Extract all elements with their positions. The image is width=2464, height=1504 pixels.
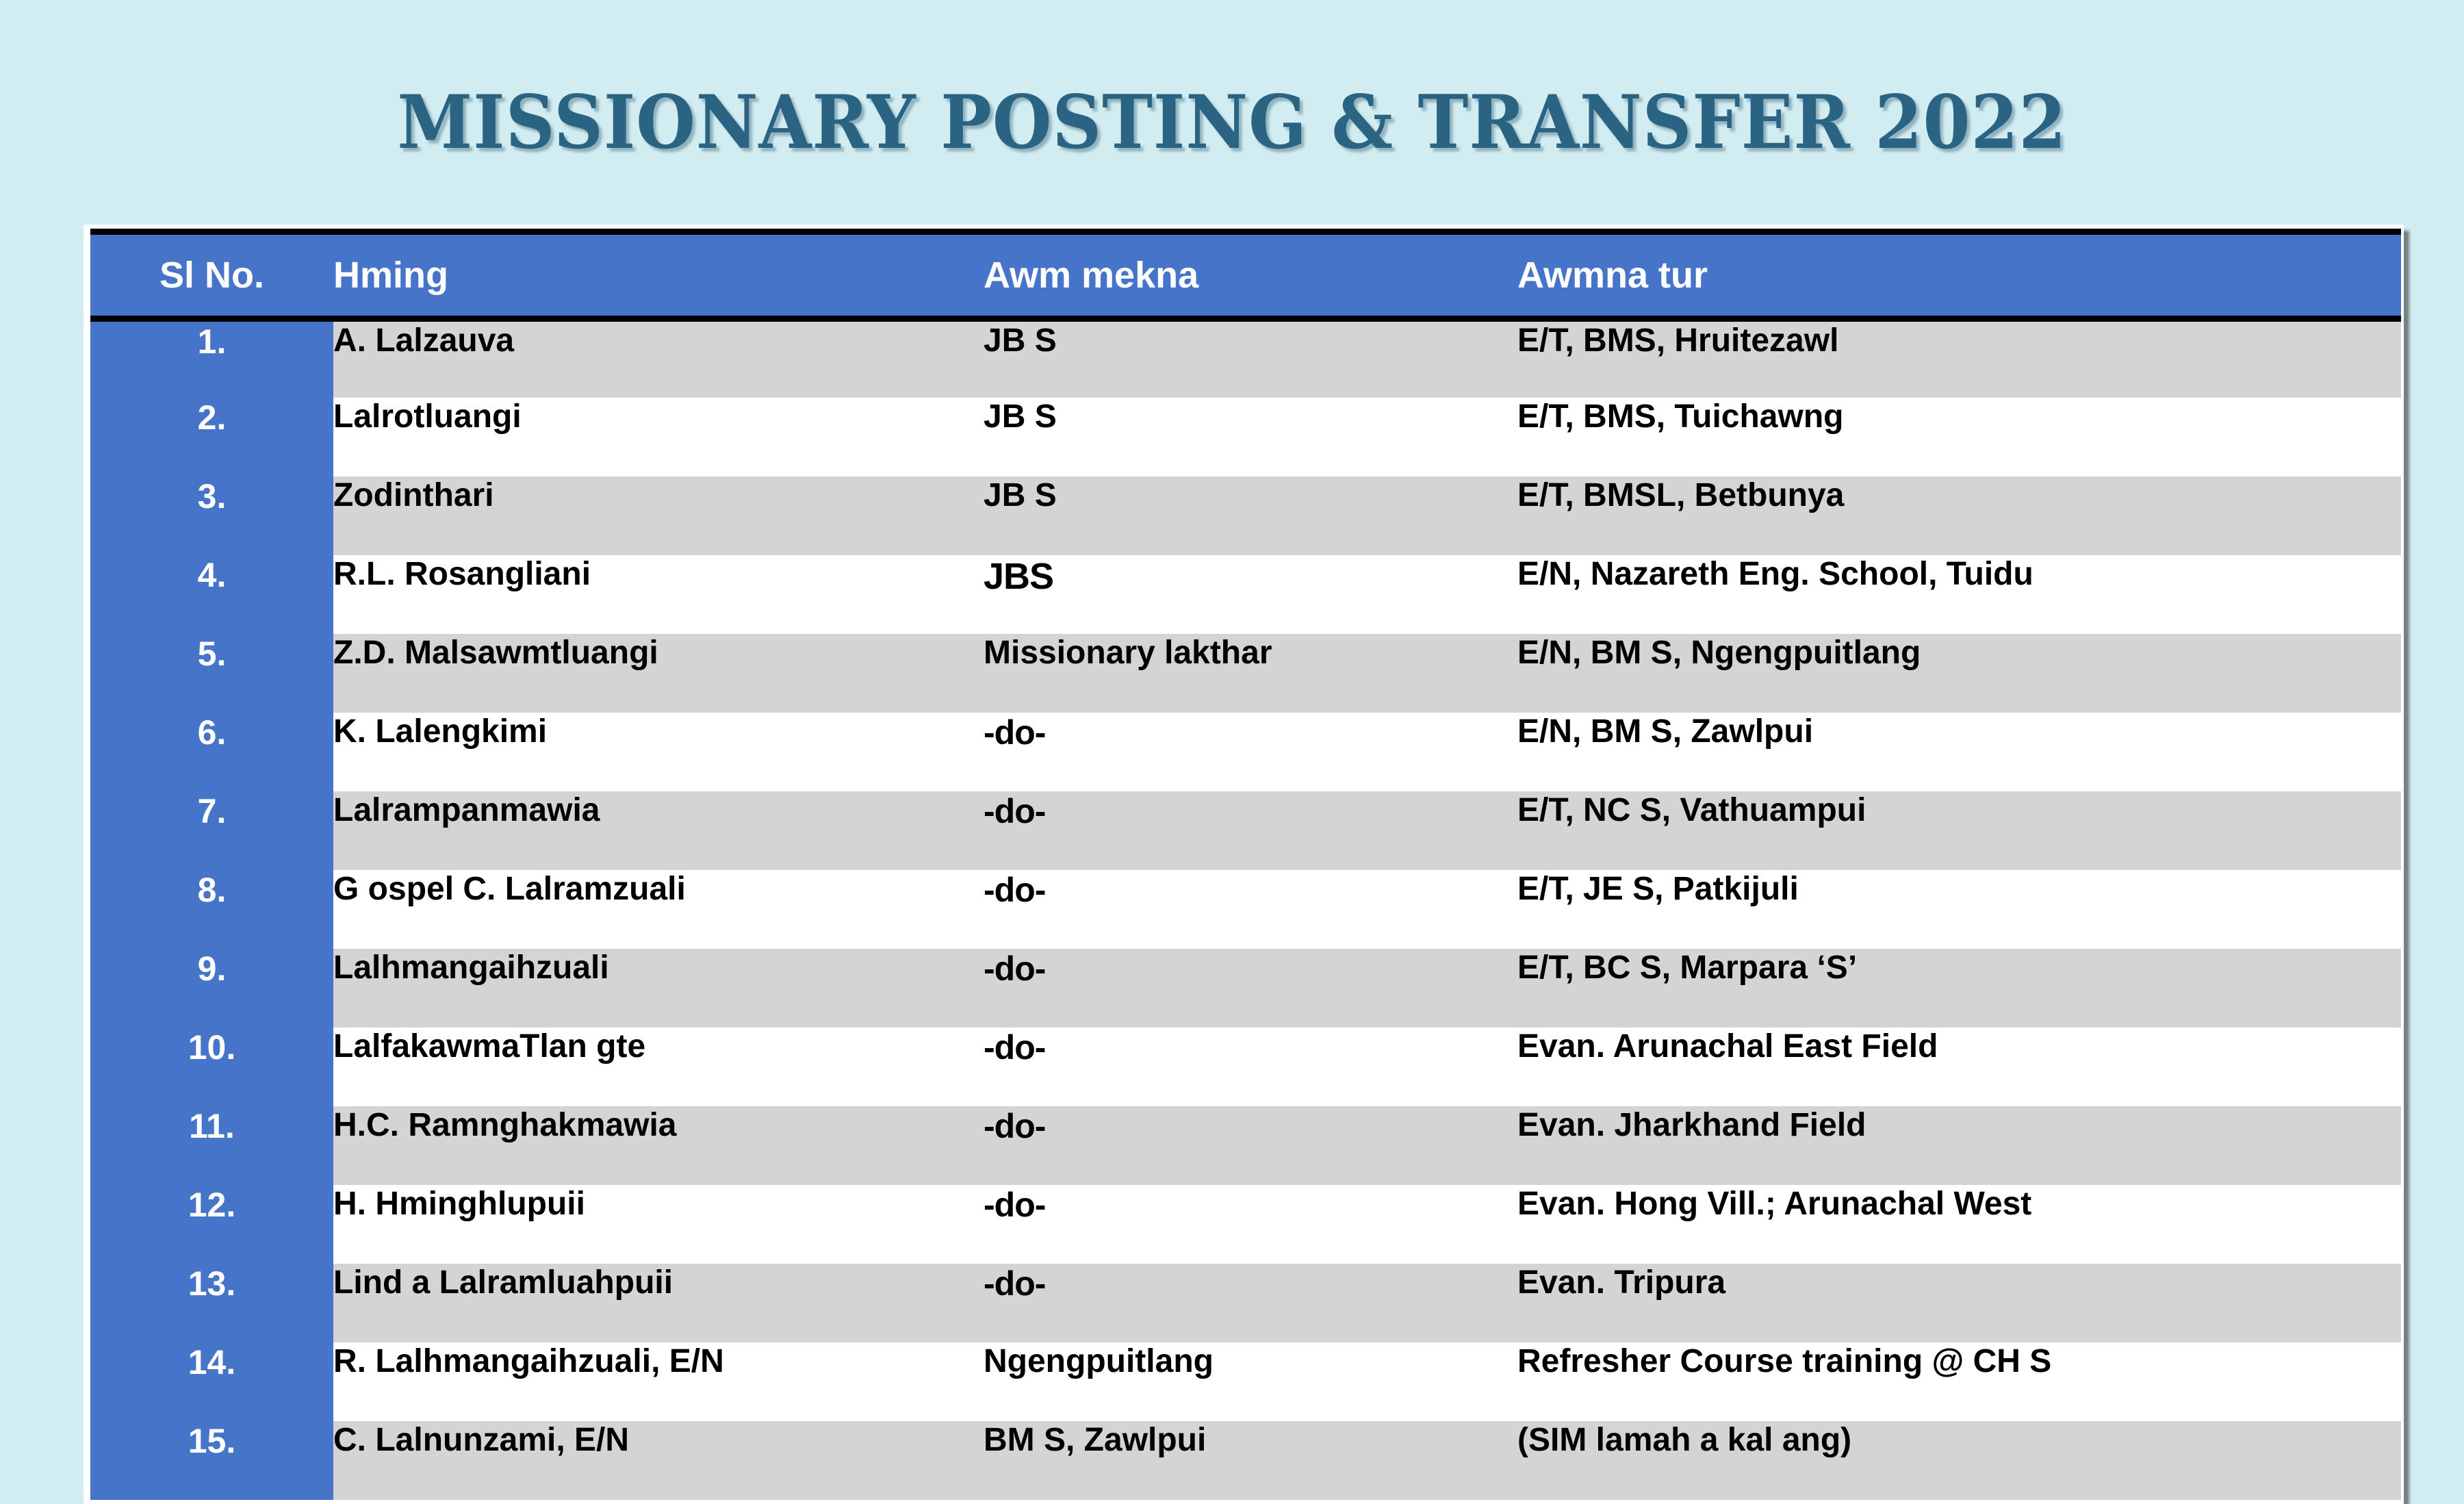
- row-current-posting: -do-: [984, 791, 1517, 870]
- row-missionary-name: Lalrotluangi: [333, 398, 984, 476]
- row-serial-number: 15.: [90, 1421, 333, 1500]
- row-missionary-name: H. Hminghlupuii: [333, 1185, 984, 1264]
- row-new-posting: E/N, Nazareth Eng. School, Tuidu: [1517, 555, 2401, 634]
- row-new-posting: E/T, NC S, Vathuampui: [1517, 791, 2401, 870]
- row-new-posting: Evan. Hong Vill.; Arunachal West: [1517, 1185, 2401, 1264]
- table-row: 1.A. LalzauvaJB SE/T, BMS, Hruitezawl: [90, 319, 2401, 398]
- table-row: 4.R.L. RosanglianiJBSE/N, Nazareth Eng. …: [90, 555, 2401, 634]
- row-current-posting: -do-: [984, 1264, 1517, 1342]
- row-current-posting: -do-: [984, 1028, 1517, 1106]
- row-missionary-name: Lind a Lalramluahpuii: [333, 1264, 984, 1342]
- table-body: 1.A. LalzauvaJB SE/T, BMS, Hruitezawl2.L…: [90, 319, 2401, 1500]
- row-new-posting: E/T, BMS, Tuichawng: [1517, 398, 2401, 476]
- posting-transfer-table: Sl No. Hming Awm mekna Awmna tur 1.A. La…: [90, 229, 2401, 1500]
- row-serial-number: 8.: [90, 870, 333, 949]
- row-serial-number: 3.: [90, 476, 333, 555]
- table-row: 15.C. Lalnunzami, E/NBM S, Zawlpui(SIM l…: [90, 1421, 2401, 1500]
- row-missionary-name: LalfakawmaTlan gte: [333, 1028, 984, 1106]
- row-new-posting: E/T, BC S, Marpara ‘S’: [1517, 949, 2401, 1028]
- table-row: 12.H. Hminghlupuii-do-Evan. Hong Vill.; …: [90, 1185, 2401, 1264]
- row-missionary-name: A. Lalzauva: [333, 319, 984, 398]
- row-current-posting: Missionary lakthar: [984, 634, 1517, 713]
- column-header-hming: Hming: [333, 232, 984, 319]
- row-missionary-name: C. Lalnunzami, E/N: [333, 1421, 984, 1500]
- row-new-posting: (SIM lamah a kal ang): [1517, 1421, 2401, 1500]
- table-row: 8.G ospel C. Lalramzuali-do-E/T, JE S, P…: [90, 870, 2401, 949]
- row-serial-number: 6.: [90, 713, 333, 791]
- row-new-posting: E/N, BM S, Zawlpui: [1517, 713, 2401, 791]
- table-row: 2.LalrotluangiJB SE/T, BMS, Tuichawng: [90, 398, 2401, 476]
- row-serial-number: 9.: [90, 949, 333, 1028]
- row-missionary-name: Z.D. Malsawmtluangi: [333, 634, 984, 713]
- row-missionary-name: Lalrampanmawia: [333, 791, 984, 870]
- row-serial-number: 12.: [90, 1185, 333, 1264]
- page-title: MISSIONARY POSTING & TRANSFER 2022: [99, 82, 2365, 164]
- row-new-posting: Refresher Course training @ CH S: [1517, 1342, 2401, 1421]
- row-current-posting: JB S: [984, 476, 1517, 555]
- row-missionary-name: H.C. Ramnghakmawia: [333, 1106, 984, 1185]
- row-current-posting: -do-: [984, 1185, 1517, 1264]
- row-current-posting: JB S: [984, 398, 1517, 476]
- posting-table-container: Sl No. Hming Awm mekna Awmna tur 1.A. La…: [84, 225, 2404, 1504]
- row-new-posting: E/N, BM S, Ngengpuitlang: [1517, 634, 2401, 713]
- row-serial-number: 11.: [90, 1106, 333, 1185]
- row-current-posting: BM S, Zawlpui: [984, 1421, 1517, 1500]
- slide-canvas: MISSIONARY POSTING & TRANSFER 2022 Sl No…: [0, 0, 2464, 1449]
- row-missionary-name: R.L. Rosangliani: [333, 555, 984, 634]
- table-row: 14.R. Lalhmangaihzuali, E/NNgengpuitlang…: [90, 1342, 2401, 1421]
- table-row: 13.Lind a Lalramluahpuii-do-Evan. Tripur…: [90, 1264, 2401, 1342]
- row-serial-number: 14.: [90, 1342, 333, 1421]
- row-new-posting: Evan. Jharkhand Field: [1517, 1106, 2401, 1185]
- row-current-posting: JB S: [984, 319, 1517, 398]
- row-missionary-name: G ospel C. Lalramzuali: [333, 870, 984, 949]
- column-header-sl-no: Sl No.: [90, 232, 333, 319]
- row-current-posting: -do-: [984, 949, 1517, 1028]
- row-new-posting: Evan. Tripura: [1517, 1264, 2401, 1342]
- row-serial-number: 10.: [90, 1028, 333, 1106]
- row-missionary-name: K. Lalengkimi: [333, 713, 984, 791]
- row-missionary-name: Lalhmangaihzuali: [333, 949, 984, 1028]
- row-missionary-name: R. Lalhmangaihzuali, E/N: [333, 1342, 984, 1421]
- row-new-posting: Evan. Arunachal East Field: [1517, 1028, 2401, 1106]
- table-row: 11.H.C. Ramnghakmawia-do-Evan. Jharkhand…: [90, 1106, 2401, 1185]
- row-serial-number: 7.: [90, 791, 333, 870]
- row-serial-number: 13.: [90, 1264, 333, 1342]
- row-current-posting: Ngengpuitlang: [984, 1342, 1517, 1421]
- row-missionary-name: Zodinthari: [333, 476, 984, 555]
- column-header-awm-mekna: Awm mekna: [984, 232, 1517, 319]
- row-new-posting: E/T, JE S, Patkijuli: [1517, 870, 2401, 949]
- table-row: 6.K. Lalengkimi-do-E/N, BM S, Zawlpui: [90, 713, 2401, 791]
- table-row: 5.Z.D. MalsawmtluangiMissionary laktharE…: [90, 634, 2401, 713]
- row-current-posting: JBS: [984, 555, 1517, 634]
- row-serial-number: 4.: [90, 555, 333, 634]
- table-row: 10.LalfakawmaTlan gte-do-Evan. Arunachal…: [90, 1028, 2401, 1106]
- table-row: 7.Lalrampanmawia-do-E/T, NC S, Vathuampu…: [90, 791, 2401, 870]
- table-header-row: Sl No. Hming Awm mekna Awmna tur: [90, 232, 2401, 319]
- row-current-posting: -do-: [984, 713, 1517, 791]
- row-new-posting: E/T, BMSL, Betbunya: [1517, 476, 2401, 555]
- row-current-posting: -do-: [984, 1106, 1517, 1185]
- column-header-awmna-tur: Awmna tur: [1517, 232, 2401, 319]
- row-current-posting: -do-: [984, 870, 1517, 949]
- table-row: 9.Lalhmangaihzuali-do-E/T, BC S, Marpara…: [90, 949, 2401, 1028]
- row-new-posting: E/T, BMS, Hruitezawl: [1517, 319, 2401, 398]
- row-serial-number: 5.: [90, 634, 333, 713]
- row-serial-number: 2.: [90, 398, 333, 476]
- table-header: Sl No. Hming Awm mekna Awmna tur: [90, 232, 2401, 319]
- row-serial-number: 1.: [90, 319, 333, 398]
- table-row: 3.ZodinthariJB SE/T, BMSL, Betbunya: [90, 476, 2401, 555]
